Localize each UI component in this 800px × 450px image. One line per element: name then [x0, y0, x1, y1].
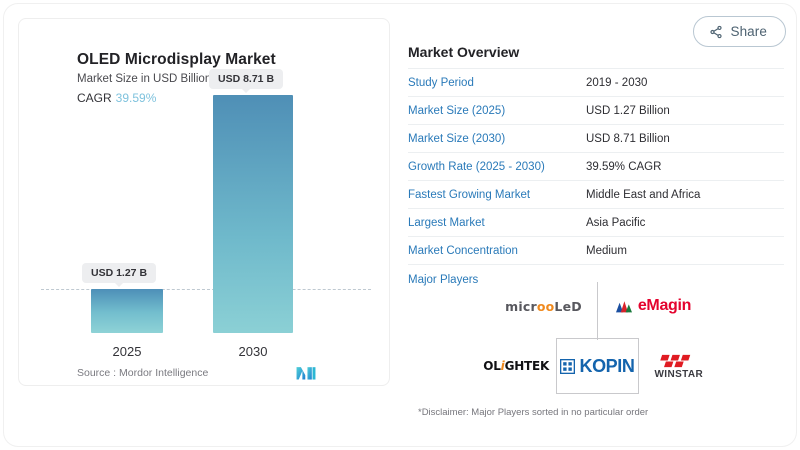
- table-row: Largest Market Asia Pacific: [408, 208, 784, 236]
- row-value: Middle East and Africa: [586, 189, 700, 201]
- winstar-chevron-icon: [660, 353, 698, 368]
- logo-cell-microoled[interactable]: microoLeD: [490, 282, 597, 330]
- emagin-logo: eMagin: [612, 297, 691, 315]
- table-row: Market Size (2030) USD 8.71 Billion: [408, 124, 784, 152]
- row-value: Asia Pacific: [586, 217, 645, 229]
- table-row: Fastest Growing Market Middle East and A…: [408, 180, 784, 208]
- chart-source: Source : Mordor Intelligence: [77, 367, 208, 379]
- row-key: Growth Rate (2025 - 2030): [408, 161, 586, 173]
- row-key: Fastest Growing Market: [408, 189, 586, 201]
- bar-chart-plot: USD 1.27 B USD 8.71 B 2025 2030: [19, 19, 391, 387]
- microoled-logo: microoLeD: [505, 299, 582, 314]
- share-button[interactable]: Share: [693, 16, 786, 47]
- row-value: USD 8.71 Billion: [586, 133, 670, 145]
- winstar-logo: WINSTAR: [654, 353, 703, 380]
- kopin-square-icon: [560, 359, 575, 374]
- major-players-logo-grid: microoLeD eMagin OLiGHTEK: [490, 282, 705, 394]
- table-row: Growth Rate (2025 - 2030) 39.59% CAGR: [408, 152, 784, 180]
- winstar-wordmark: WINSTAR: [654, 369, 703, 380]
- row-key: Market Size (2025): [408, 105, 586, 117]
- row-value: 2019 - 2030: [586, 77, 647, 89]
- disclaimer-text: *Disclaimer: Major Players sorted in no …: [418, 407, 648, 418]
- olightek-logo: OLiGHTEK: [483, 359, 549, 373]
- screenshot-root: Share OLED Microdisplay Market Market Si…: [0, 0, 800, 450]
- share-nodes-icon: [709, 25, 723, 39]
- logo-row-bottom: OLiGHTEK KOPIN: [476, 338, 719, 394]
- bar-2030[interactable]: [213, 95, 293, 333]
- overview-title: Market Overview: [408, 44, 784, 60]
- logo-cell-winstar[interactable]: WINSTAR: [638, 338, 719, 394]
- bar-label-2025: USD 1.27 B: [82, 263, 156, 283]
- logo-cell-emagin[interactable]: eMagin: [597, 282, 705, 330]
- table-row: Market Concentration Medium: [408, 236, 784, 264]
- row-key: Study Period: [408, 77, 586, 89]
- bar-label-2030: USD 8.71 B: [209, 69, 283, 89]
- row-key: Market Concentration: [408, 245, 586, 257]
- market-overview-panel: Market Overview Study Period 2019 - 2030…: [408, 44, 784, 294]
- row-key: Market Size (2030): [408, 133, 586, 145]
- emagin-triangle-icon: [612, 299, 636, 313]
- row-key: Largest Market: [408, 217, 586, 229]
- logo-cell-olightek[interactable]: OLiGHTEK: [476, 338, 556, 394]
- logo-cell-kopin[interactable]: KOPIN: [556, 338, 637, 394]
- x-axis-tick-2030: 2030: [213, 344, 293, 359]
- logo-row-top: microoLeD eMagin: [490, 282, 705, 330]
- row-value: Medium: [586, 245, 627, 257]
- emagin-wordmark: eMagin: [638, 297, 691, 315]
- bar-2025[interactable]: [91, 289, 163, 333]
- kopin-logo: KOPIN: [560, 356, 634, 377]
- kopin-wordmark: KOPIN: [579, 356, 634, 377]
- share-button-label: Share: [730, 24, 767, 39]
- table-row: Market Size (2025) USD 1.27 Billion: [408, 96, 784, 124]
- row-value: USD 1.27 Billion: [586, 105, 670, 117]
- chart-panel: OLED Microdisplay Market Market Size in …: [18, 18, 390, 386]
- table-row: Study Period 2019 - 2030: [408, 68, 784, 96]
- x-axis-tick-2025: 2025: [91, 344, 163, 359]
- row-value: 39.59% CAGR: [586, 161, 661, 173]
